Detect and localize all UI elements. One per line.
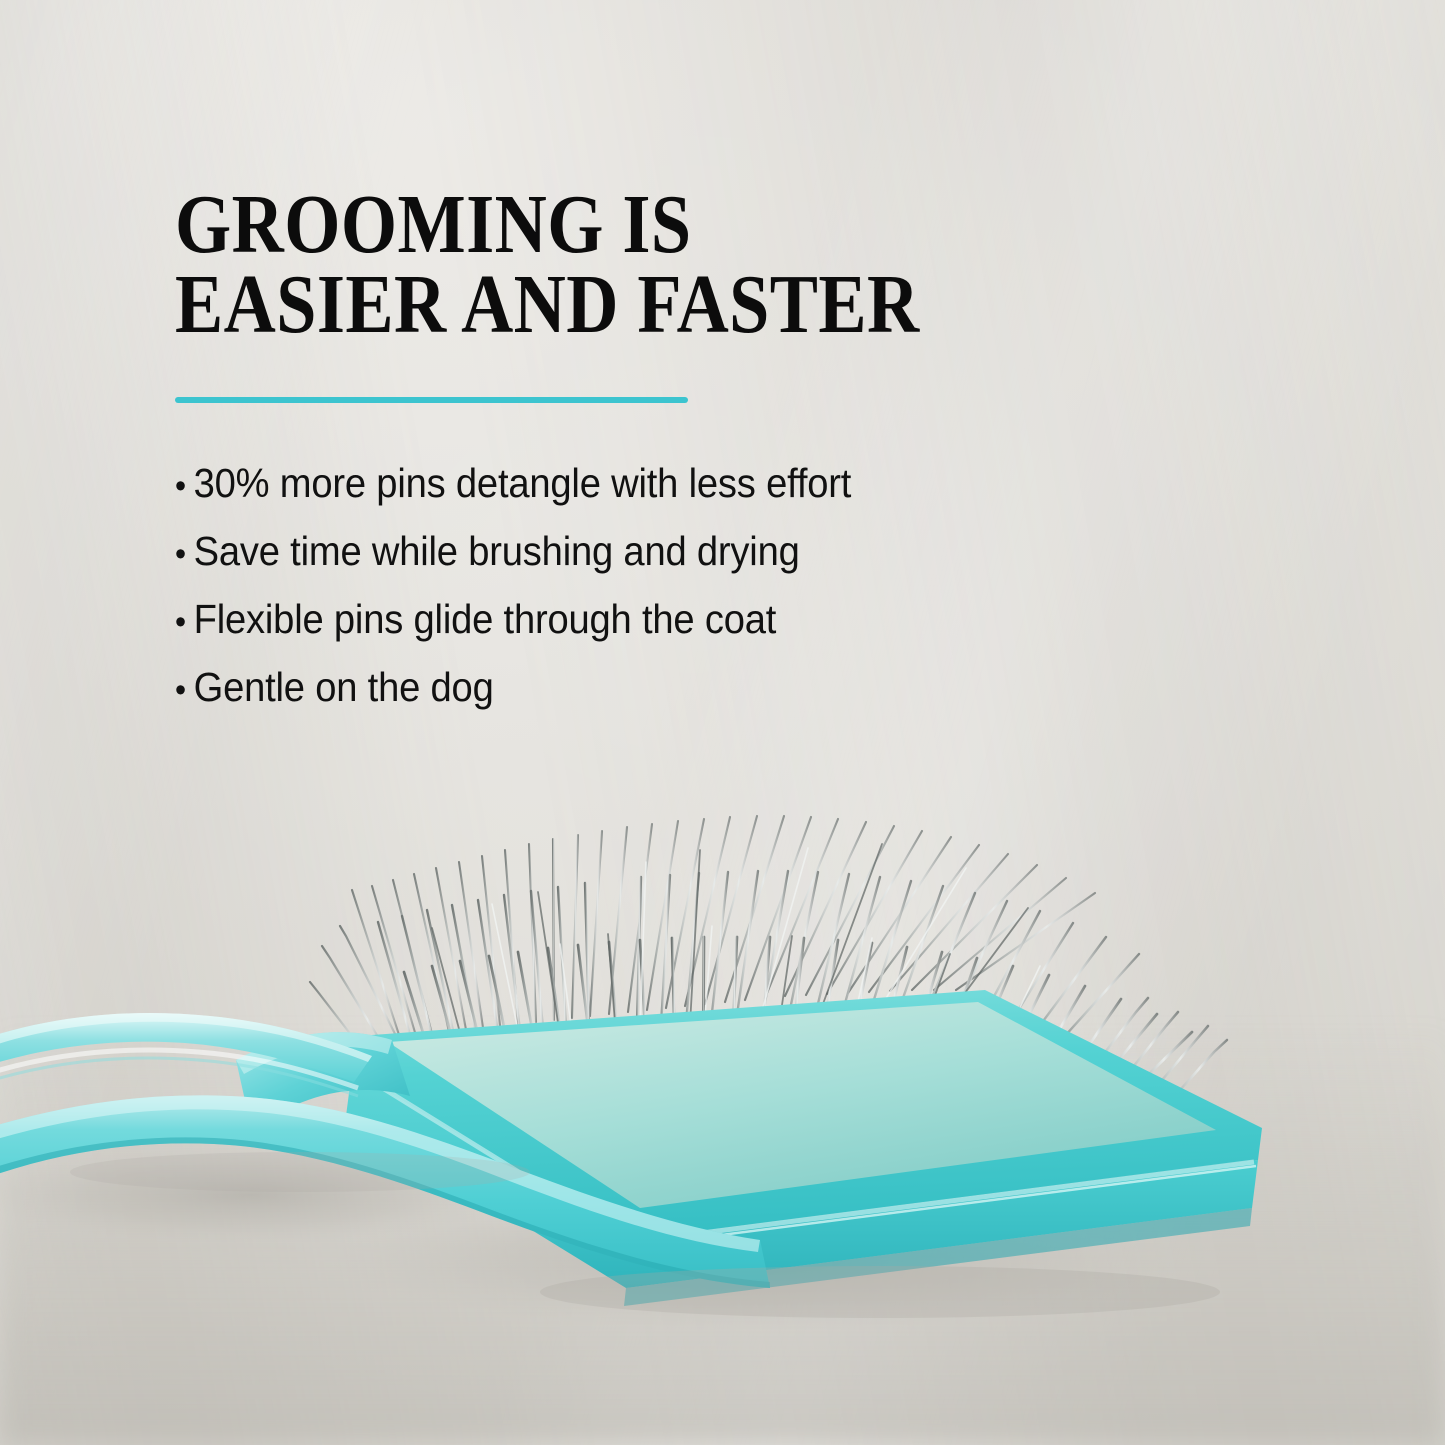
list-item: • Gentle on the dog [175,667,956,708]
list-item-label: 30% more pins detangle with less effort [194,463,852,504]
list-item-label: Flexible pins glide through the coat [194,599,777,640]
list-item: • Save time while brushing and drying [175,531,956,572]
list-item-label: Save time while brushing and drying [194,531,800,572]
bullet-dot-icon: • [175,537,194,571]
handle-contact-shadow [70,1152,530,1192]
accent-divider [175,397,688,403]
benefit-list: • 30% more pins detangle with less effor… [175,463,1015,708]
headline-line-1: GROOMING IS [175,185,897,265]
headline-line-2: EASIER AND FASTER [175,265,897,345]
bullet-dot-icon: • [175,469,194,503]
copy-block: GROOMING IS EASIER AND FASTER • 30% more… [175,185,1015,735]
list-item: • 30% more pins detangle with less effor… [175,463,956,504]
list-item: • Flexible pins glide through the coat [175,599,956,640]
slicker-brush-illustration [0,740,1445,1445]
headline: GROOMING IS EASIER AND FASTER [175,185,897,345]
bullet-dot-icon: • [175,605,194,639]
bullet-dot-icon: • [175,673,194,707]
list-item-label: Gentle on the dog [194,667,494,708]
head-contact-shadow [540,1266,1220,1318]
product-photo [0,740,1445,1445]
product-feature-image: GROOMING IS EASIER AND FASTER • 30% more… [0,0,1445,1445]
